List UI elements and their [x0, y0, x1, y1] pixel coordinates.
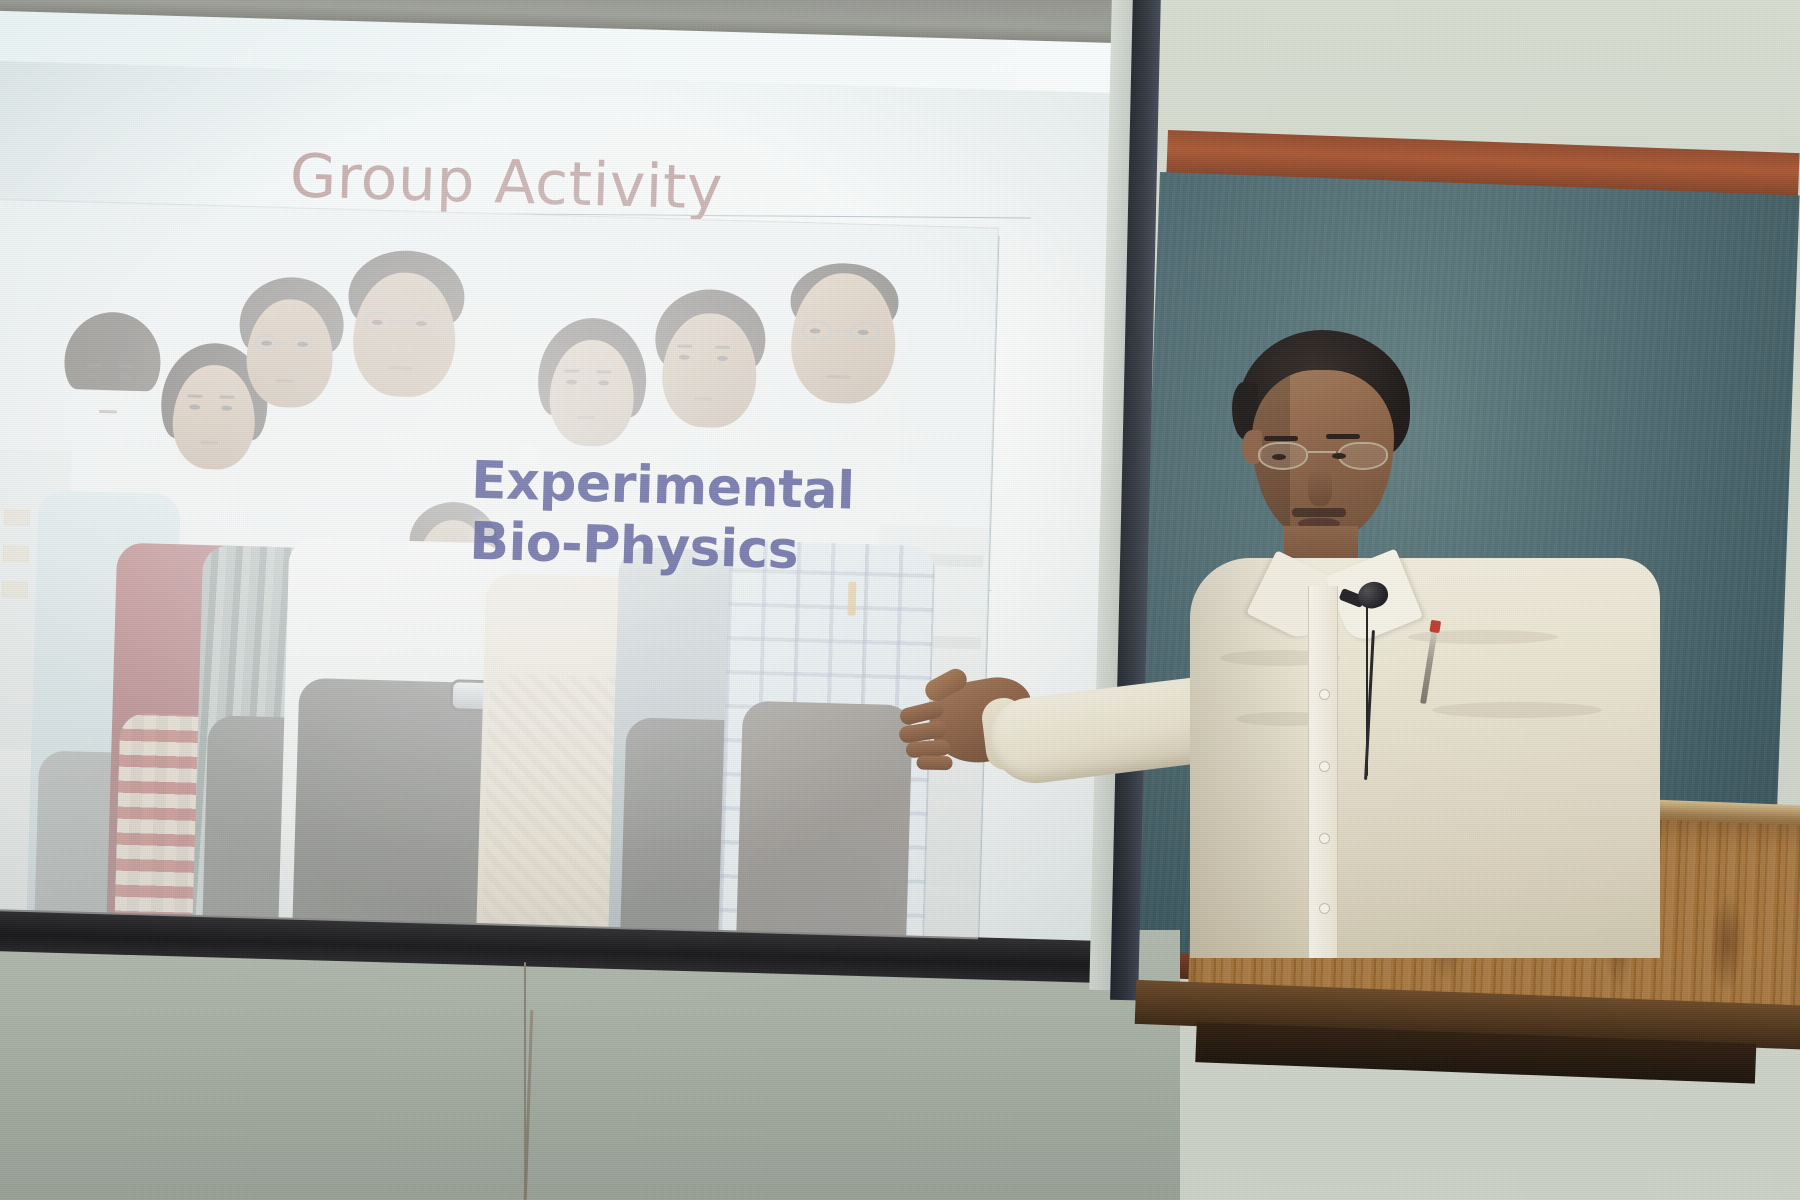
projection-screen: Group Activity — [0, 0, 1160, 994]
presenter-eye-left — [1272, 454, 1286, 460]
slide-overlay-line-1: Experimental — [470, 451, 855, 523]
presentation-scene: Group Activity — [0, 0, 1800, 1200]
presenter-eyebrow-left — [1264, 436, 1298, 441]
presenter-eyebrow-right — [1326, 434, 1360, 439]
screen-surface: Group Activity — [0, 10, 1158, 944]
presenter-moustache — [1292, 508, 1346, 517]
slide-overlay-text: Experimental Bio-Physics — [469, 451, 856, 585]
slide-overlay-line-2: Bio-Physics — [469, 512, 854, 584]
presenter-shirt-placket — [1308, 586, 1338, 958]
slide: Group Activity — [0, 89, 1112, 944]
presenter-nose — [1308, 468, 1332, 506]
presenter-eye-right — [1332, 453, 1346, 459]
presenter — [1180, 330, 1660, 950]
